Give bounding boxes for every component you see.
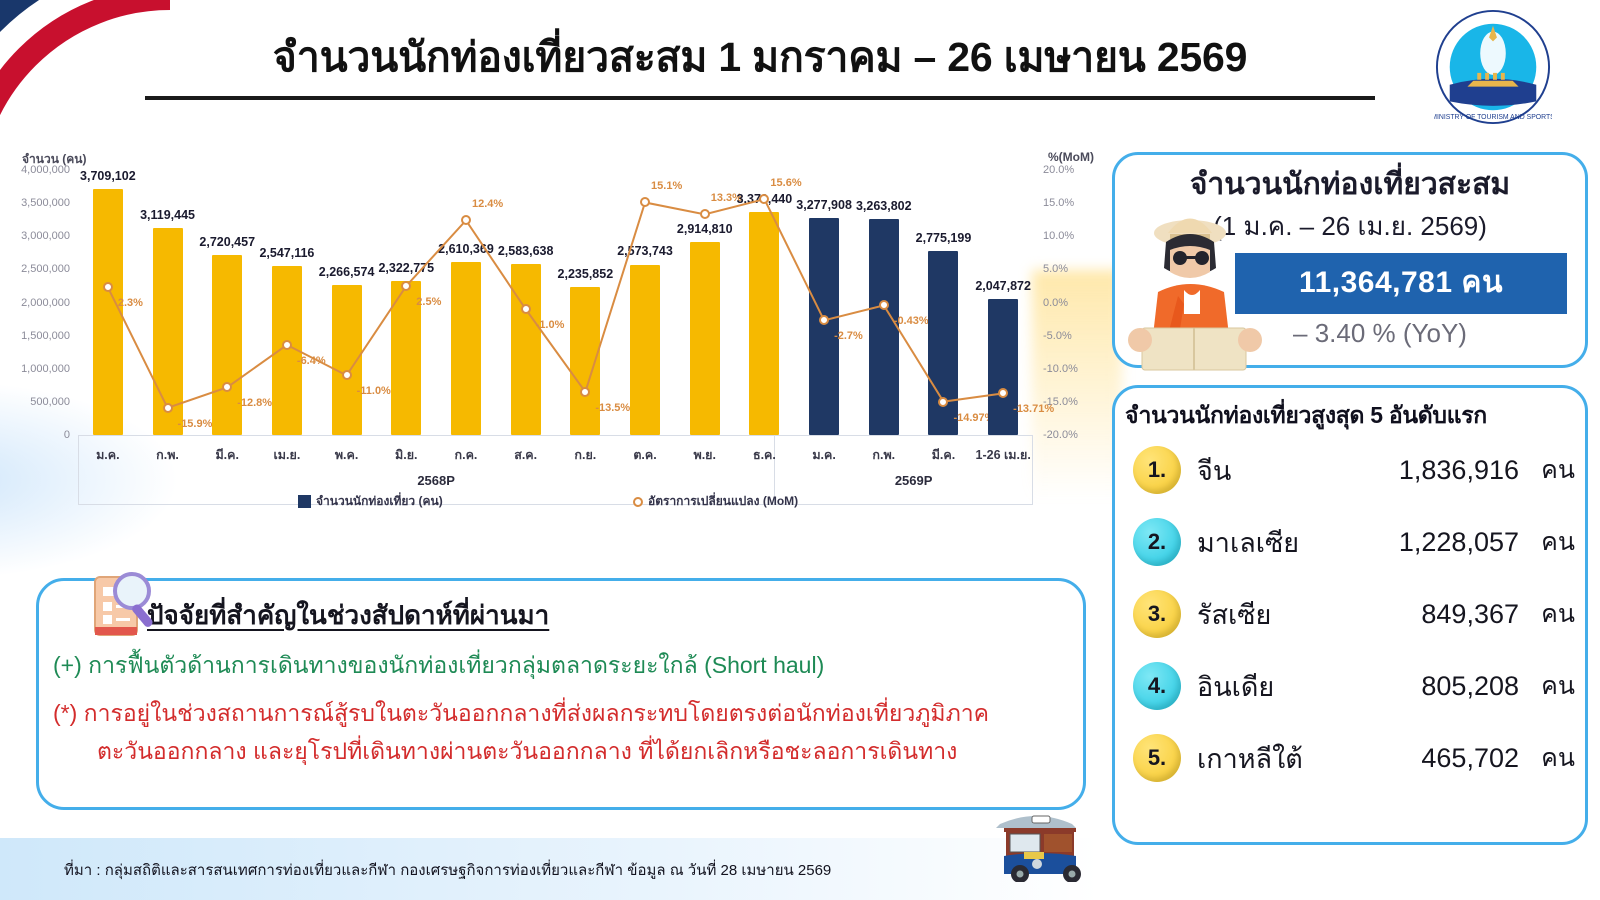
svg-text:MINISTRY OF TOURISM AND SPORTS: MINISTRY OF TOURISM AND SPORTS bbox=[1434, 114, 1552, 121]
mom-data-point bbox=[998, 388, 1008, 398]
legend-bar-label: จำนวนนักท่องเที่ยว (คน) bbox=[316, 492, 443, 511]
x-axis-tick-label: ก.พ. bbox=[872, 445, 895, 465]
top5-row: 1.จีน1,836,916คน bbox=[1115, 434, 1585, 506]
country-name: เกาหลีใต้ bbox=[1181, 737, 1331, 780]
source-note: ที่มา : กลุ่มสถิติและสารสนเทศการท่องเที่… bbox=[64, 858, 831, 882]
x-axis-tick-label: ส.ค. bbox=[514, 445, 537, 465]
x-axis-tick-label: มี.ค. bbox=[932, 445, 956, 465]
x-axis-tick-label: ธ.ค. bbox=[753, 445, 776, 465]
y-axis-tick: 2,500,000 bbox=[21, 263, 70, 275]
legend-bar-swatch bbox=[298, 495, 311, 508]
key-factors-card: ปัจจัยที่สำคัญในช่วงสัปดาห์ที่ผ่านมา (+)… bbox=[36, 578, 1086, 810]
chart-plot-area: 0500,0001,000,0001,500,0002,000,0002,500… bbox=[78, 170, 1033, 435]
country-name: รัสเซีย bbox=[1181, 593, 1331, 636]
country-unit: คน bbox=[1533, 450, 1585, 490]
x-axis-tick-label: ม.ค. bbox=[812, 445, 836, 465]
mom-data-point bbox=[879, 300, 889, 310]
x-axis-tick-label: เม.ย. bbox=[274, 445, 301, 465]
mom-data-point bbox=[163, 403, 173, 413]
rank-medal: 5. bbox=[1133, 734, 1181, 782]
y2-axis-title: %(MoM) bbox=[1048, 150, 1094, 164]
top5-rows: 1.จีน1,836,916คน2.มาเลเซีย1,228,057คน3.ร… bbox=[1115, 434, 1585, 794]
country-unit: คน bbox=[1533, 522, 1585, 562]
rank-medal: 2. bbox=[1133, 518, 1181, 566]
country-value: 1,836,916 bbox=[1331, 455, 1533, 486]
y2-axis-tick: 10.0% bbox=[1043, 230, 1074, 242]
tourist-chart-panel: จำนวน (คน) %(MoM) 0500,0001,000,0001,500… bbox=[12, 140, 1102, 520]
country-value: 805,208 bbox=[1331, 671, 1533, 702]
ministry-of-tourism-and-sports-logo: MINISTRY OF TOURISM AND SPORTS bbox=[1434, 8, 1552, 126]
rank-medal: 1. bbox=[1133, 446, 1181, 494]
y-axis-tick: 1,500,000 bbox=[21, 330, 70, 342]
y-axis-tick: 4,000,000 bbox=[21, 164, 70, 176]
x-axis-group-label: 2568P bbox=[417, 473, 455, 488]
x-axis-tick-label: มี.ค. bbox=[215, 445, 239, 465]
x-axis-tick-label: ก.ค. bbox=[455, 445, 478, 465]
header: จำนวนนักท่องเที่ยวสะสม 1 มกราคม – 26 เมษ… bbox=[100, 20, 1420, 120]
factor-negative-line1: (*) การอยู่ในช่วงสถานการณ์สู้รบในตะวันออ… bbox=[53, 696, 1083, 732]
traveler-illustration bbox=[1118, 200, 1268, 375]
top5-row: 4.อินเดีย805,208คน bbox=[1115, 650, 1585, 722]
mom-data-point bbox=[580, 387, 590, 397]
y-axis-tick: 0 bbox=[64, 429, 70, 441]
y2-axis-tick: 0.0% bbox=[1043, 297, 1068, 309]
mom-data-point bbox=[759, 194, 769, 204]
clipboard-magnifier-icon bbox=[79, 563, 165, 649]
x-axis-tick-label: มิ.ย. bbox=[395, 445, 418, 465]
mom-data-point bbox=[282, 340, 292, 350]
y2-axis-tick: -20.0% bbox=[1043, 429, 1078, 441]
mom-data-point bbox=[222, 382, 232, 392]
x-axis-group-label: 2569P bbox=[895, 473, 933, 488]
y2-axis-tick: -10.0% bbox=[1043, 363, 1078, 375]
top5-row: 3.รัสเซีย849,367คน bbox=[1115, 578, 1585, 650]
y-axis-tick: 3,000,000 bbox=[21, 230, 70, 242]
legend-line-label: อัตราการเปลี่ยนแปลง (MoM) bbox=[648, 492, 798, 511]
country-unit: คน bbox=[1533, 594, 1585, 634]
mom-data-point bbox=[819, 315, 829, 325]
page-title: จำนวนนักท่องเที่ยวสะสม 1 มกราคม – 26 เมษ… bbox=[100, 20, 1420, 94]
legend-item-bar: จำนวนนักท่องเที่ยว (คน) bbox=[298, 492, 443, 511]
country-value: 1,228,057 bbox=[1331, 527, 1533, 558]
mom-line-path bbox=[78, 170, 1033, 435]
factor-negative-line2: ตะวันออกกลาง และยุโรปที่เดินทางผ่านตะวัน… bbox=[97, 734, 1083, 770]
factors-heading-text: ปัจจัยที่สำคัญในช่วงสัปดาห์ที่ผ่านมา bbox=[147, 595, 549, 636]
x-axis-tick-label: ก.ย. bbox=[574, 445, 596, 465]
rank-medal: 4. bbox=[1133, 662, 1181, 710]
x-axis-tick-label: ต.ค. bbox=[633, 445, 656, 465]
y2-axis-tick: 20.0% bbox=[1043, 164, 1074, 176]
y2-axis-tick: 15.0% bbox=[1043, 197, 1074, 209]
summary-value-band: 11,364,781 คน bbox=[1235, 253, 1567, 314]
mom-data-point bbox=[461, 215, 471, 225]
mom-data-point bbox=[342, 370, 352, 380]
x-axis-tick-label: พ.ย. bbox=[693, 445, 716, 465]
legend-line-swatch bbox=[633, 497, 643, 507]
y-axis-tick: 1,000,000 bbox=[21, 363, 70, 375]
country-name: จีน bbox=[1181, 449, 1331, 492]
y2-axis-tick: 5.0% bbox=[1043, 263, 1068, 275]
country-value: 849,367 bbox=[1331, 599, 1533, 630]
mom-data-point bbox=[521, 304, 531, 314]
country-value: 465,702 bbox=[1331, 743, 1533, 774]
title-divider bbox=[145, 96, 1375, 100]
y2-axis-tick: -5.0% bbox=[1043, 330, 1072, 342]
x-axis-tick-label: ม.ค. bbox=[96, 445, 120, 465]
x-axis-tick-label: ก.พ. bbox=[156, 445, 179, 465]
chart-legend: จำนวนนักท่องเที่ยว (คน) อัตราการเปลี่ยนแ… bbox=[78, 492, 1033, 516]
mom-data-point bbox=[103, 282, 113, 292]
y-axis-tick: 500,000 bbox=[30, 396, 70, 408]
mom-data-point bbox=[700, 209, 710, 219]
factor-positive: (+) การฟื้นตัวด้านการเดินทางของนักท่องเท… bbox=[53, 648, 1083, 684]
factors-heading: ปัจจัยที่สำคัญในช่วงสัปดาห์ที่ผ่านมา bbox=[147, 595, 1083, 636]
mom-data-point bbox=[640, 197, 650, 207]
x-axis-tick-label: 1-26 เม.ย. bbox=[976, 445, 1031, 465]
top5-title: จำนวนนักท่องเที่ยวสูงสุด 5 อันดับแรก bbox=[1125, 398, 1585, 434]
y-axis-tick: 2,000,000 bbox=[21, 297, 70, 309]
y-axis-tick: 3,500,000 bbox=[21, 197, 70, 209]
country-name: มาเลเซีย bbox=[1181, 521, 1331, 564]
country-unit: คน bbox=[1533, 738, 1585, 778]
top5-countries-card: จำนวนนักท่องเที่ยวสูงสุด 5 อันดับแรก 1.จ… bbox=[1112, 385, 1588, 845]
top5-row: 2.มาเลเซีย1,228,057คน bbox=[1115, 506, 1585, 578]
country-name: อินเดีย bbox=[1181, 665, 1331, 708]
country-unit: คน bbox=[1533, 666, 1585, 706]
x-axis-tick-label: พ.ค. bbox=[335, 445, 359, 465]
top5-row: 5.เกาหลีใต้465,702คน bbox=[1115, 722, 1585, 794]
mom-data-point bbox=[938, 397, 948, 407]
mom-data-point bbox=[401, 281, 411, 291]
legend-item-line: อัตราการเปลี่ยนแปลง (MoM) bbox=[633, 492, 798, 511]
rank-medal: 3. bbox=[1133, 590, 1181, 638]
tuktuk-illustration bbox=[980, 796, 1100, 882]
